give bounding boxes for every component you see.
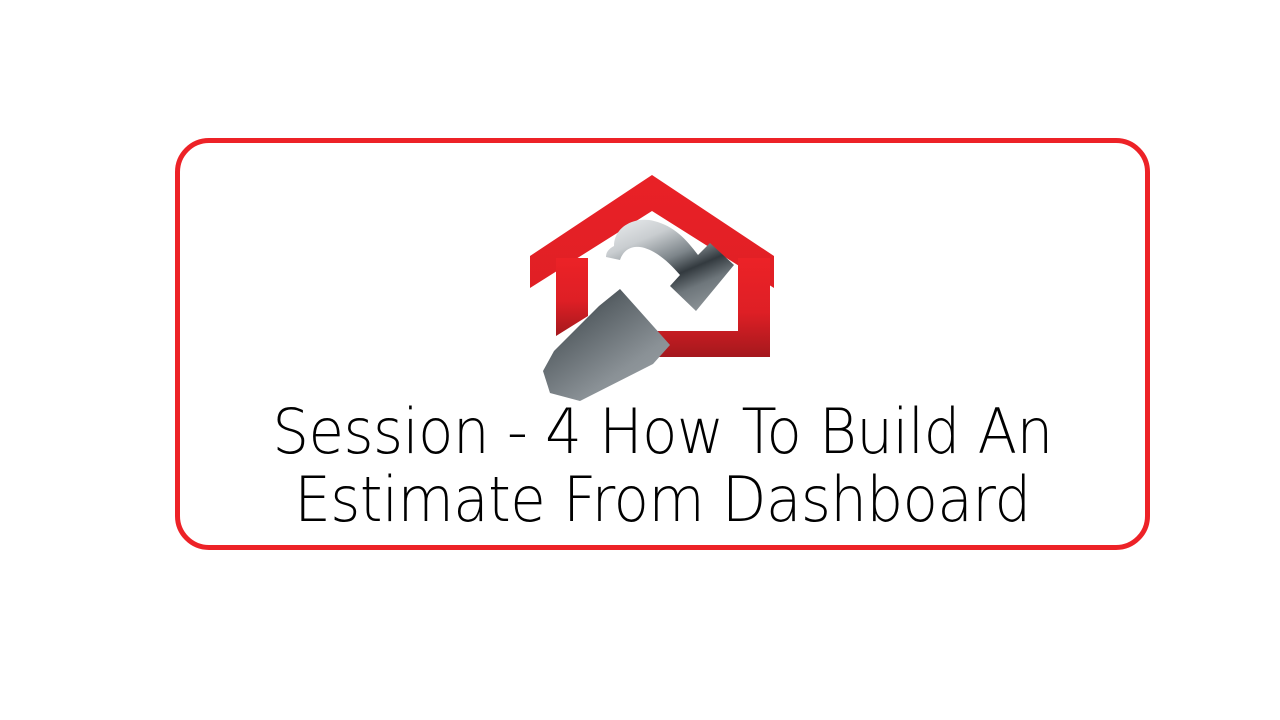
title-block: Session - 4 How To Build An Estimate Fro… (180, 401, 1145, 531)
title-line-1: Session - 4 How To Build An (214, 401, 1111, 463)
title-card: Session - 4 How To Build An Estimate Fro… (175, 138, 1150, 550)
title-line-2: Estimate From Dashboard (214, 469, 1111, 531)
house-hammer-logo (502, 161, 802, 401)
slide-canvas: Session - 4 How To Build An Estimate Fro… (0, 0, 1280, 720)
house-hammer-logo-graphic (502, 161, 802, 401)
